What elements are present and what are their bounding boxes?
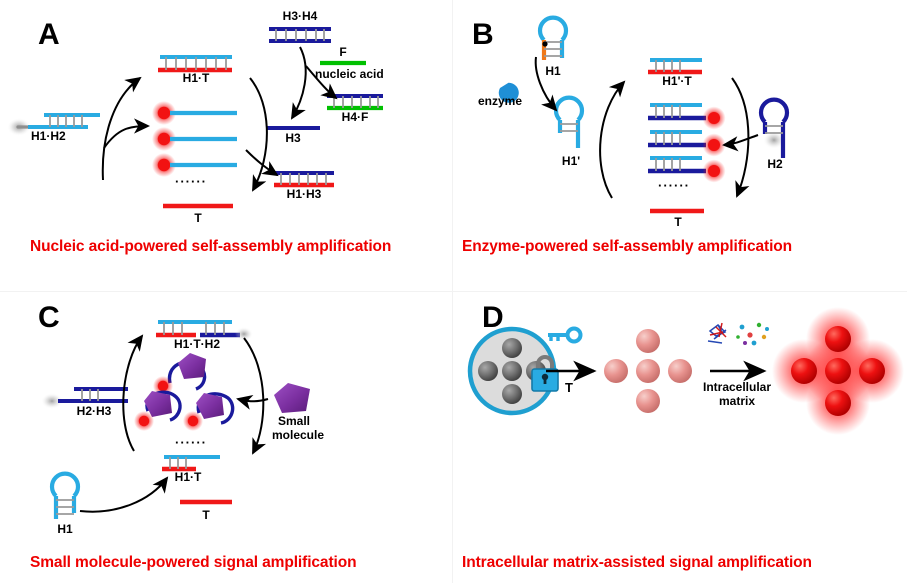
panel-d: D bbox=[452, 291, 907, 583]
label-h3: H3 bbox=[285, 132, 300, 145]
label-h3h4: H3·H4 bbox=[283, 10, 318, 23]
arrow-right-cycle-c bbox=[244, 338, 263, 453]
arrow-left-cycle-c bbox=[123, 336, 142, 451]
arrow-left-up bbox=[103, 78, 140, 180]
duplex-h1t bbox=[158, 57, 232, 70]
label-small-molecule-1: Small bbox=[278, 415, 310, 428]
panel-a: A bbox=[0, 0, 455, 291]
label-t-c: T bbox=[202, 509, 209, 522]
small-molecule-pentagon bbox=[274, 383, 310, 413]
label-h1-prime: H1' bbox=[562, 155, 580, 168]
label-f: F bbox=[339, 46, 346, 59]
label-t-b: T bbox=[674, 216, 681, 229]
figure-canvas: A bbox=[0, 0, 907, 583]
arrow-molecule-in bbox=[238, 399, 268, 401]
intracellular-matrix-icon bbox=[708, 323, 769, 346]
label-h2h3: H2·H3 bbox=[77, 405, 112, 418]
panel-c-graphics bbox=[0, 291, 455, 583]
panel-c: C bbox=[0, 291, 455, 583]
panel-c-caption: Small molecule-powered signal amplificat… bbox=[30, 554, 356, 572]
arrow-h3h4-to-h3 bbox=[292, 47, 306, 118]
label-enzyme: enzyme bbox=[478, 95, 522, 108]
panel-a-caption: Nucleic acid-powered self-assembly ampli… bbox=[30, 238, 391, 256]
arrow-left-into-stack bbox=[104, 126, 148, 148]
duplex-h3h4 bbox=[269, 29, 331, 41]
duplex-h1h3 bbox=[274, 173, 334, 185]
label-h1th2: H1·T·H2 bbox=[174, 338, 220, 351]
label-small-molecule-2: molecule bbox=[272, 429, 324, 442]
key-icon bbox=[548, 329, 581, 342]
released-particles bbox=[604, 329, 692, 413]
panel-a-ellipsis: ······ bbox=[175, 174, 207, 189]
label-h1-c: H1 bbox=[57, 523, 72, 536]
aptamer-pentagon-cluster bbox=[134, 353, 233, 431]
label-h1h3: H1·H3 bbox=[287, 188, 322, 201]
label-h2-b: H2 bbox=[767, 158, 782, 171]
label-matrix-1: Intracellular bbox=[703, 381, 771, 394]
label-matrix-2: matrix bbox=[719, 395, 755, 408]
arrow-right-cycle bbox=[250, 78, 267, 190]
label-h1t: H1·T bbox=[183, 72, 210, 85]
fluorescent-cluster bbox=[772, 307, 904, 435]
panel-b-ellipsis: ······ bbox=[658, 178, 690, 193]
label-nucleic-acid: nucleic acid bbox=[315, 68, 384, 81]
label-trigger-t: T bbox=[565, 381, 573, 395]
hairpin-h2 bbox=[761, 100, 787, 158]
panel-c-ellipsis: ······ bbox=[175, 435, 207, 450]
loaded-nanocarrier bbox=[470, 329, 558, 413]
label-h1prime-t: H1'·T bbox=[662, 75, 692, 88]
hairpin-h1 bbox=[540, 18, 566, 60]
product-duplex-stack bbox=[648, 105, 726, 183]
hairpin-h1-c bbox=[52, 474, 78, 519]
panel-b: B bbox=[452, 0, 907, 291]
panel-d-caption: Intracellular matrix-assisted signal amp… bbox=[462, 554, 812, 572]
label-h4f: H4·F bbox=[342, 111, 369, 124]
arrow-right-cycle-b bbox=[732, 78, 748, 196]
label-h1h2: H1·H2 bbox=[31, 130, 66, 143]
panel-b-caption: Enzyme-powered self-assembly amplificati… bbox=[462, 238, 792, 256]
duplex-h1t-c bbox=[162, 457, 220, 469]
product-strands-stack bbox=[152, 101, 237, 177]
duplex-h1prime-t bbox=[648, 60, 702, 72]
label-h1t-c: H1·T bbox=[175, 471, 202, 484]
arrow-h1-to-h1t bbox=[80, 478, 167, 512]
hairpin-h1-prime bbox=[556, 98, 582, 148]
label-h1-b: H1 bbox=[545, 65, 560, 78]
panel-d-graphics bbox=[452, 291, 907, 583]
label-t: T bbox=[194, 212, 201, 225]
arrow-left-cycle-b bbox=[600, 82, 624, 198]
arrow-h2-to-stack bbox=[724, 135, 758, 145]
